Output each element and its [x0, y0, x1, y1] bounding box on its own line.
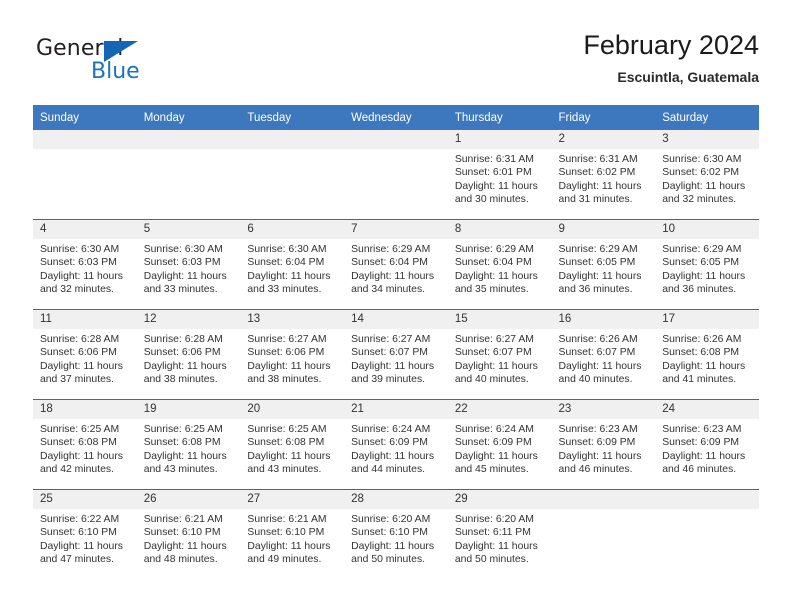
- sunset-time: Sunset: 6:02 PM: [559, 166, 650, 179]
- day-details: Sunrise: 6:31 AMSunset: 6:02 PMDaylight:…: [552, 149, 656, 207]
- daylight-duration-line1: Daylight: 11 hours: [559, 360, 650, 373]
- day-number: 3: [655, 130, 759, 149]
- sunrise-sunset-calendar: Sunday Monday Tuesday Wednesday Thursday…: [33, 105, 759, 579]
- day-number: [655, 490, 759, 509]
- sunrise-time: Sunrise: 6:22 AM: [40, 513, 131, 526]
- sunset-time: Sunset: 6:03 PM: [144, 256, 235, 269]
- sunrise-time: Sunrise: 6:21 AM: [144, 513, 235, 526]
- sunrise-time: Sunrise: 6:29 AM: [455, 243, 546, 256]
- sunrise-time: Sunrise: 6:29 AM: [662, 243, 753, 256]
- day-number: 10: [655, 220, 759, 239]
- general-blue-logo[interactable]: General Blue: [33, 28, 243, 88]
- weekday-header-monday: Monday: [137, 105, 241, 130]
- calendar-week-row: 1Sunrise: 6:31 AMSunset: 6:01 PMDaylight…: [33, 130, 759, 220]
- sunset-time: Sunset: 6:09 PM: [455, 436, 546, 449]
- calendar-day-cell[interactable]: 16Sunrise: 6:26 AMSunset: 6:07 PMDayligh…: [552, 310, 656, 400]
- day-number: 26: [137, 490, 241, 509]
- sunrise-time: Sunrise: 6:20 AM: [351, 513, 442, 526]
- calendar-header-row: Sunday Monday Tuesday Wednesday Thursday…: [33, 105, 759, 130]
- day-details: Sunrise: 6:31 AMSunset: 6:01 PMDaylight:…: [448, 149, 552, 207]
- sunrise-time: Sunrise: 6:25 AM: [40, 423, 131, 436]
- daylight-duration-line1: Daylight: 11 hours: [40, 270, 131, 283]
- sunset-time: Sunset: 6:04 PM: [351, 256, 442, 269]
- daylight-duration-line1: Daylight: 11 hours: [144, 450, 235, 463]
- sunrise-time: Sunrise: 6:25 AM: [247, 423, 338, 436]
- sunset-time: Sunset: 6:11 PM: [455, 526, 546, 539]
- calendar-day-cell[interactable]: 12Sunrise: 6:28 AMSunset: 6:06 PMDayligh…: [137, 310, 241, 400]
- day-details: Sunrise: 6:23 AMSunset: 6:09 PMDaylight:…: [552, 419, 656, 477]
- daylight-duration-line1: Daylight: 11 hours: [455, 450, 546, 463]
- weekday-header-wednesday: Wednesday: [344, 105, 448, 130]
- sunset-time: Sunset: 6:01 PM: [455, 166, 546, 179]
- daylight-duration-line2: and 32 minutes.: [662, 193, 753, 206]
- calendar-day-cell[interactable]: 21Sunrise: 6:24 AMSunset: 6:09 PMDayligh…: [344, 400, 448, 490]
- daylight-duration-line2: and 50 minutes.: [351, 553, 442, 566]
- calendar-day-cell[interactable]: 17Sunrise: 6:26 AMSunset: 6:08 PMDayligh…: [655, 310, 759, 400]
- sunrise-time: Sunrise: 6:31 AM: [559, 153, 650, 166]
- daylight-duration-line1: Daylight: 11 hours: [351, 360, 442, 373]
- day-details: Sunrise: 6:23 AMSunset: 6:09 PMDaylight:…: [655, 419, 759, 477]
- daylight-duration-line1: Daylight: 11 hours: [662, 360, 753, 373]
- calendar-week-row: 25Sunrise: 6:22 AMSunset: 6:10 PMDayligh…: [33, 490, 759, 580]
- sunrise-time: Sunrise: 6:21 AM: [247, 513, 338, 526]
- day-number: 11: [33, 310, 137, 329]
- calendar-day-cell[interactable]: 2Sunrise: 6:31 AMSunset: 6:02 PMDaylight…: [552, 130, 656, 220]
- day-number: 6: [240, 220, 344, 239]
- weekday-header-thursday: Thursday: [448, 105, 552, 130]
- sunrise-time: Sunrise: 6:26 AM: [559, 333, 650, 346]
- sunrise-time: Sunrise: 6:30 AM: [40, 243, 131, 256]
- daylight-duration-line1: Daylight: 11 hours: [40, 360, 131, 373]
- day-number: [33, 130, 137, 149]
- sunset-time: Sunset: 6:10 PM: [40, 526, 131, 539]
- daylight-duration-line2: and 46 minutes.: [662, 463, 753, 476]
- daylight-duration-line2: and 46 minutes.: [559, 463, 650, 476]
- daylight-duration-line2: and 33 minutes.: [144, 283, 235, 296]
- calendar-day-cell[interactable]: 8Sunrise: 6:29 AMSunset: 6:04 PMDaylight…: [448, 220, 552, 310]
- day-number: 8: [448, 220, 552, 239]
- day-details: Sunrise: 6:30 AMSunset: 6:02 PMDaylight:…: [655, 149, 759, 207]
- sunset-time: Sunset: 6:03 PM: [40, 256, 131, 269]
- daylight-duration-line2: and 34 minutes.: [351, 283, 442, 296]
- calendar-day-cell[interactable]: 5Sunrise: 6:30 AMSunset: 6:03 PMDaylight…: [137, 220, 241, 310]
- day-number: 4: [33, 220, 137, 239]
- day-details: Sunrise: 6:27 AMSunset: 6:06 PMDaylight:…: [240, 329, 344, 387]
- calendar-day-cell[interactable]: 1Sunrise: 6:31 AMSunset: 6:01 PMDaylight…: [448, 130, 552, 220]
- day-number: [344, 130, 448, 149]
- day-number: 18: [33, 400, 137, 419]
- calendar-day-cell[interactable]: 3Sunrise: 6:30 AMSunset: 6:02 PMDaylight…: [655, 130, 759, 220]
- day-details: Sunrise: 6:21 AMSunset: 6:10 PMDaylight:…: [137, 509, 241, 567]
- calendar-day-cell[interactable]: 15Sunrise: 6:27 AMSunset: 6:07 PMDayligh…: [448, 310, 552, 400]
- daylight-duration-line2: and 41 minutes.: [662, 373, 753, 386]
- calendar-day-cell-empty: [552, 490, 656, 580]
- day-details: Sunrise: 6:26 AMSunset: 6:07 PMDaylight:…: [552, 329, 656, 387]
- page-title: February 2024: [583, 28, 759, 62]
- logo-text-blue: Blue: [91, 59, 140, 84]
- calendar-day-cell[interactable]: 25Sunrise: 6:22 AMSunset: 6:10 PMDayligh…: [33, 490, 137, 580]
- day-details: Sunrise: 6:28 AMSunset: 6:06 PMDaylight:…: [33, 329, 137, 387]
- calendar-day-cell[interactable]: 29Sunrise: 6:20 AMSunset: 6:11 PMDayligh…: [448, 490, 552, 580]
- day-number: [552, 490, 656, 509]
- day-details: Sunrise: 6:29 AMSunset: 6:04 PMDaylight:…: [344, 239, 448, 297]
- day-number: [240, 130, 344, 149]
- daylight-duration-line1: Daylight: 11 hours: [455, 540, 546, 553]
- day-number: 17: [655, 310, 759, 329]
- weekday-header-sunday: Sunday: [33, 105, 137, 130]
- calendar-day-cell[interactable]: 26Sunrise: 6:21 AMSunset: 6:10 PMDayligh…: [137, 490, 241, 580]
- calendar-day-cell[interactable]: 23Sunrise: 6:23 AMSunset: 6:09 PMDayligh…: [552, 400, 656, 490]
- day-number: 20: [240, 400, 344, 419]
- daylight-duration-line2: and 45 minutes.: [455, 463, 546, 476]
- daylight-duration-line2: and 49 minutes.: [247, 553, 338, 566]
- sunrise-time: Sunrise: 6:29 AM: [351, 243, 442, 256]
- calendar-day-cell[interactable]: 10Sunrise: 6:29 AMSunset: 6:05 PMDayligh…: [655, 220, 759, 310]
- day-details: Sunrise: 6:30 AMSunset: 6:04 PMDaylight:…: [240, 239, 344, 297]
- daylight-duration-line2: and 33 minutes.: [247, 283, 338, 296]
- daylight-duration-line1: Daylight: 11 hours: [351, 450, 442, 463]
- calendar-page: General Blue February 2024 Escuintla, Gu…: [0, 0, 792, 612]
- sunrise-time: Sunrise: 6:24 AM: [351, 423, 442, 436]
- calendar-body: 1Sunrise: 6:31 AMSunset: 6:01 PMDaylight…: [33, 130, 759, 579]
- day-number: 7: [344, 220, 448, 239]
- daylight-duration-line1: Daylight: 11 hours: [247, 540, 338, 553]
- sunset-time: Sunset: 6:09 PM: [662, 436, 753, 449]
- daylight-duration-line1: Daylight: 11 hours: [247, 360, 338, 373]
- day-details: Sunrise: 6:29 AMSunset: 6:04 PMDaylight:…: [448, 239, 552, 297]
- sunrise-time: Sunrise: 6:23 AM: [662, 423, 753, 436]
- daylight-duration-line1: Daylight: 11 hours: [144, 540, 235, 553]
- day-number: 13: [240, 310, 344, 329]
- calendar-day-cell-empty: [137, 130, 241, 220]
- sunset-time: Sunset: 6:08 PM: [662, 346, 753, 359]
- calendar-day-cell[interactable]: 22Sunrise: 6:24 AMSunset: 6:09 PMDayligh…: [448, 400, 552, 490]
- daylight-duration-line2: and 48 minutes.: [144, 553, 235, 566]
- day-details: Sunrise: 6:25 AMSunset: 6:08 PMDaylight:…: [33, 419, 137, 477]
- day-details: Sunrise: 6:29 AMSunset: 6:05 PMDaylight:…: [552, 239, 656, 297]
- sunrise-time: Sunrise: 6:27 AM: [351, 333, 442, 346]
- calendar-day-cell-empty: [240, 130, 344, 220]
- sunrise-time: Sunrise: 6:26 AM: [662, 333, 753, 346]
- sunset-time: Sunset: 6:08 PM: [144, 436, 235, 449]
- sunrise-time: Sunrise: 6:30 AM: [144, 243, 235, 256]
- day-details: Sunrise: 6:25 AMSunset: 6:08 PMDaylight:…: [137, 419, 241, 477]
- day-details: Sunrise: 6:21 AMSunset: 6:10 PMDaylight:…: [240, 509, 344, 567]
- day-number: 22: [448, 400, 552, 419]
- sunset-time: Sunset: 6:07 PM: [559, 346, 650, 359]
- day-number: [137, 130, 241, 149]
- calendar-day-cell[interactable]: 9Sunrise: 6:29 AMSunset: 6:05 PMDaylight…: [552, 220, 656, 310]
- calendar-week-row: 4Sunrise: 6:30 AMSunset: 6:03 PMDaylight…: [33, 220, 759, 310]
- daylight-duration-line1: Daylight: 11 hours: [247, 450, 338, 463]
- sunset-time: Sunset: 6:09 PM: [351, 436, 442, 449]
- day-details: Sunrise: 6:30 AMSunset: 6:03 PMDaylight:…: [33, 239, 137, 297]
- day-details: Sunrise: 6:25 AMSunset: 6:08 PMDaylight:…: [240, 419, 344, 477]
- day-details: Sunrise: 6:20 AMSunset: 6:10 PMDaylight:…: [344, 509, 448, 567]
- calendar-day-cell[interactable]: 11Sunrise: 6:28 AMSunset: 6:06 PMDayligh…: [33, 310, 137, 400]
- calendar-day-cell[interactable]: 27Sunrise: 6:21 AMSunset: 6:10 PMDayligh…: [240, 490, 344, 580]
- day-details: Sunrise: 6:27 AMSunset: 6:07 PMDaylight:…: [344, 329, 448, 387]
- sunrise-time: Sunrise: 6:28 AM: [144, 333, 235, 346]
- day-number: 15: [448, 310, 552, 329]
- daylight-duration-line1: Daylight: 11 hours: [559, 450, 650, 463]
- calendar-week-row: 11Sunrise: 6:28 AMSunset: 6:06 PMDayligh…: [33, 310, 759, 400]
- day-number: 21: [344, 400, 448, 419]
- day-number: 19: [137, 400, 241, 419]
- daylight-duration-line1: Daylight: 11 hours: [247, 270, 338, 283]
- daylight-duration-line2: and 36 minutes.: [559, 283, 650, 296]
- sunset-time: Sunset: 6:06 PM: [144, 346, 235, 359]
- daylight-duration-line1: Daylight: 11 hours: [455, 270, 546, 283]
- sunset-time: Sunset: 6:06 PM: [40, 346, 131, 359]
- sunrise-time: Sunrise: 6:27 AM: [455, 333, 546, 346]
- daylight-duration-line2: and 35 minutes.: [455, 283, 546, 296]
- daylight-duration-line2: and 31 minutes.: [559, 193, 650, 206]
- sunset-time: Sunset: 6:08 PM: [247, 436, 338, 449]
- calendar-day-cell[interactable]: 28Sunrise: 6:20 AMSunset: 6:10 PMDayligh…: [344, 490, 448, 580]
- sunrise-time: Sunrise: 6:30 AM: [662, 153, 753, 166]
- daylight-duration-line2: and 37 minutes.: [40, 373, 131, 386]
- day-details: Sunrise: 6:29 AMSunset: 6:05 PMDaylight:…: [655, 239, 759, 297]
- sunset-time: Sunset: 6:05 PM: [559, 256, 650, 269]
- day-number: 14: [344, 310, 448, 329]
- daylight-duration-line2: and 47 minutes.: [40, 553, 131, 566]
- sunrise-time: Sunrise: 6:29 AM: [559, 243, 650, 256]
- day-number: 12: [137, 310, 241, 329]
- sunset-time: Sunset: 6:02 PM: [662, 166, 753, 179]
- sunset-time: Sunset: 6:08 PM: [40, 436, 131, 449]
- calendar-day-cell-empty: [655, 490, 759, 580]
- daylight-duration-line2: and 42 minutes.: [40, 463, 131, 476]
- sunrise-time: Sunrise: 6:27 AM: [247, 333, 338, 346]
- calendar-week-row: 18Sunrise: 6:25 AMSunset: 6:08 PMDayligh…: [33, 400, 759, 490]
- calendar-day-cell[interactable]: 24Sunrise: 6:23 AMSunset: 6:09 PMDayligh…: [655, 400, 759, 490]
- sunrise-time: Sunrise: 6:20 AM: [455, 513, 546, 526]
- sunset-time: Sunset: 6:09 PM: [559, 436, 650, 449]
- day-number: 9: [552, 220, 656, 239]
- sunset-time: Sunset: 6:04 PM: [247, 256, 338, 269]
- daylight-duration-line1: Daylight: 11 hours: [662, 450, 753, 463]
- sunset-time: Sunset: 6:07 PM: [455, 346, 546, 359]
- sunrise-time: Sunrise: 6:23 AM: [559, 423, 650, 436]
- daylight-duration-line1: Daylight: 11 hours: [559, 180, 650, 193]
- calendar-day-cell[interactable]: 19Sunrise: 6:25 AMSunset: 6:08 PMDayligh…: [137, 400, 241, 490]
- daylight-duration-line2: and 36 minutes.: [662, 283, 753, 296]
- daylight-duration-line1: Daylight: 11 hours: [40, 450, 131, 463]
- page-header: General Blue February 2024 Escuintla, Gu…: [33, 28, 759, 100]
- weekday-header-tuesday: Tuesday: [240, 105, 344, 130]
- daylight-duration-line1: Daylight: 11 hours: [455, 360, 546, 373]
- daylight-duration-line1: Daylight: 11 hours: [144, 360, 235, 373]
- day-details: Sunrise: 6:20 AMSunset: 6:11 PMDaylight:…: [448, 509, 552, 567]
- calendar-day-cell[interactable]: 14Sunrise: 6:27 AMSunset: 6:07 PMDayligh…: [344, 310, 448, 400]
- day-number: 24: [655, 400, 759, 419]
- day-details: Sunrise: 6:27 AMSunset: 6:07 PMDaylight:…: [448, 329, 552, 387]
- sunrise-time: Sunrise: 6:25 AM: [144, 423, 235, 436]
- day-details: Sunrise: 6:24 AMSunset: 6:09 PMDaylight:…: [448, 419, 552, 477]
- calendar-day-cell[interactable]: 6Sunrise: 6:30 AMSunset: 6:04 PMDaylight…: [240, 220, 344, 310]
- sunrise-time: Sunrise: 6:28 AM: [40, 333, 131, 346]
- sunrise-time: Sunrise: 6:24 AM: [455, 423, 546, 436]
- sunset-time: Sunset: 6:10 PM: [351, 526, 442, 539]
- day-details: Sunrise: 6:26 AMSunset: 6:08 PMDaylight:…: [655, 329, 759, 387]
- location-subtitle: Escuintla, Guatemala: [583, 69, 759, 86]
- day-number: 27: [240, 490, 344, 509]
- calendar-day-cell[interactable]: 18Sunrise: 6:25 AMSunset: 6:08 PMDayligh…: [33, 400, 137, 490]
- day-number: 2: [552, 130, 656, 149]
- daylight-duration-line1: Daylight: 11 hours: [351, 270, 442, 283]
- sunrise-time: Sunrise: 6:31 AM: [455, 153, 546, 166]
- calendar-day-cell-empty: [33, 130, 137, 220]
- daylight-duration-line1: Daylight: 11 hours: [559, 270, 650, 283]
- daylight-duration-line2: and 38 minutes.: [247, 373, 338, 386]
- sunset-time: Sunset: 6:10 PM: [144, 526, 235, 539]
- daylight-duration-line2: and 40 minutes.: [559, 373, 650, 386]
- sunset-time: Sunset: 6:10 PM: [247, 526, 338, 539]
- day-details: Sunrise: 6:28 AMSunset: 6:06 PMDaylight:…: [137, 329, 241, 387]
- day-number: 25: [33, 490, 137, 509]
- sunset-time: Sunset: 6:07 PM: [351, 346, 442, 359]
- daylight-duration-line2: and 32 minutes.: [40, 283, 131, 296]
- sunrise-time: Sunrise: 6:30 AM: [247, 243, 338, 256]
- weekday-header-saturday: Saturday: [655, 105, 759, 130]
- daylight-duration-line2: and 30 minutes.: [455, 193, 546, 206]
- daylight-duration-line2: and 43 minutes.: [247, 463, 338, 476]
- daylight-duration-line2: and 44 minutes.: [351, 463, 442, 476]
- day-number: 23: [552, 400, 656, 419]
- day-number: 28: [344, 490, 448, 509]
- calendar-day-cell[interactable]: 20Sunrise: 6:25 AMSunset: 6:08 PMDayligh…: [240, 400, 344, 490]
- daylight-duration-line1: Daylight: 11 hours: [351, 540, 442, 553]
- day-number: 29: [448, 490, 552, 509]
- sunset-time: Sunset: 6:06 PM: [247, 346, 338, 359]
- daylight-duration-line2: and 50 minutes.: [455, 553, 546, 566]
- day-number: 16: [552, 310, 656, 329]
- calendar-day-cell[interactable]: 4Sunrise: 6:30 AMSunset: 6:03 PMDaylight…: [33, 220, 137, 310]
- sunset-time: Sunset: 6:05 PM: [662, 256, 753, 269]
- day-number: 5: [137, 220, 241, 239]
- daylight-duration-line2: and 39 minutes.: [351, 373, 442, 386]
- calendar-day-cell-empty: [344, 130, 448, 220]
- calendar-day-cell[interactable]: 7Sunrise: 6:29 AMSunset: 6:04 PMDaylight…: [344, 220, 448, 310]
- weekday-header-friday: Friday: [552, 105, 656, 130]
- day-details: Sunrise: 6:30 AMSunset: 6:03 PMDaylight:…: [137, 239, 241, 297]
- daylight-duration-line1: Daylight: 11 hours: [662, 270, 753, 283]
- daylight-duration-line2: and 43 minutes.: [144, 463, 235, 476]
- day-number: 1: [448, 130, 552, 149]
- daylight-duration-line1: Daylight: 11 hours: [455, 180, 546, 193]
- daylight-duration-line1: Daylight: 11 hours: [144, 270, 235, 283]
- daylight-duration-line1: Daylight: 11 hours: [662, 180, 753, 193]
- daylight-duration-line2: and 40 minutes.: [455, 373, 546, 386]
- calendar-day-cell[interactable]: 13Sunrise: 6:27 AMSunset: 6:06 PMDayligh…: [240, 310, 344, 400]
- day-details: Sunrise: 6:22 AMSunset: 6:10 PMDaylight:…: [33, 509, 137, 567]
- sunset-time: Sunset: 6:04 PM: [455, 256, 546, 269]
- daylight-duration-line1: Daylight: 11 hours: [40, 540, 131, 553]
- title-block: February 2024 Escuintla, Guatemala: [583, 28, 759, 86]
- daylight-duration-line2: and 38 minutes.: [144, 373, 235, 386]
- day-details: Sunrise: 6:24 AMSunset: 6:09 PMDaylight:…: [344, 419, 448, 477]
